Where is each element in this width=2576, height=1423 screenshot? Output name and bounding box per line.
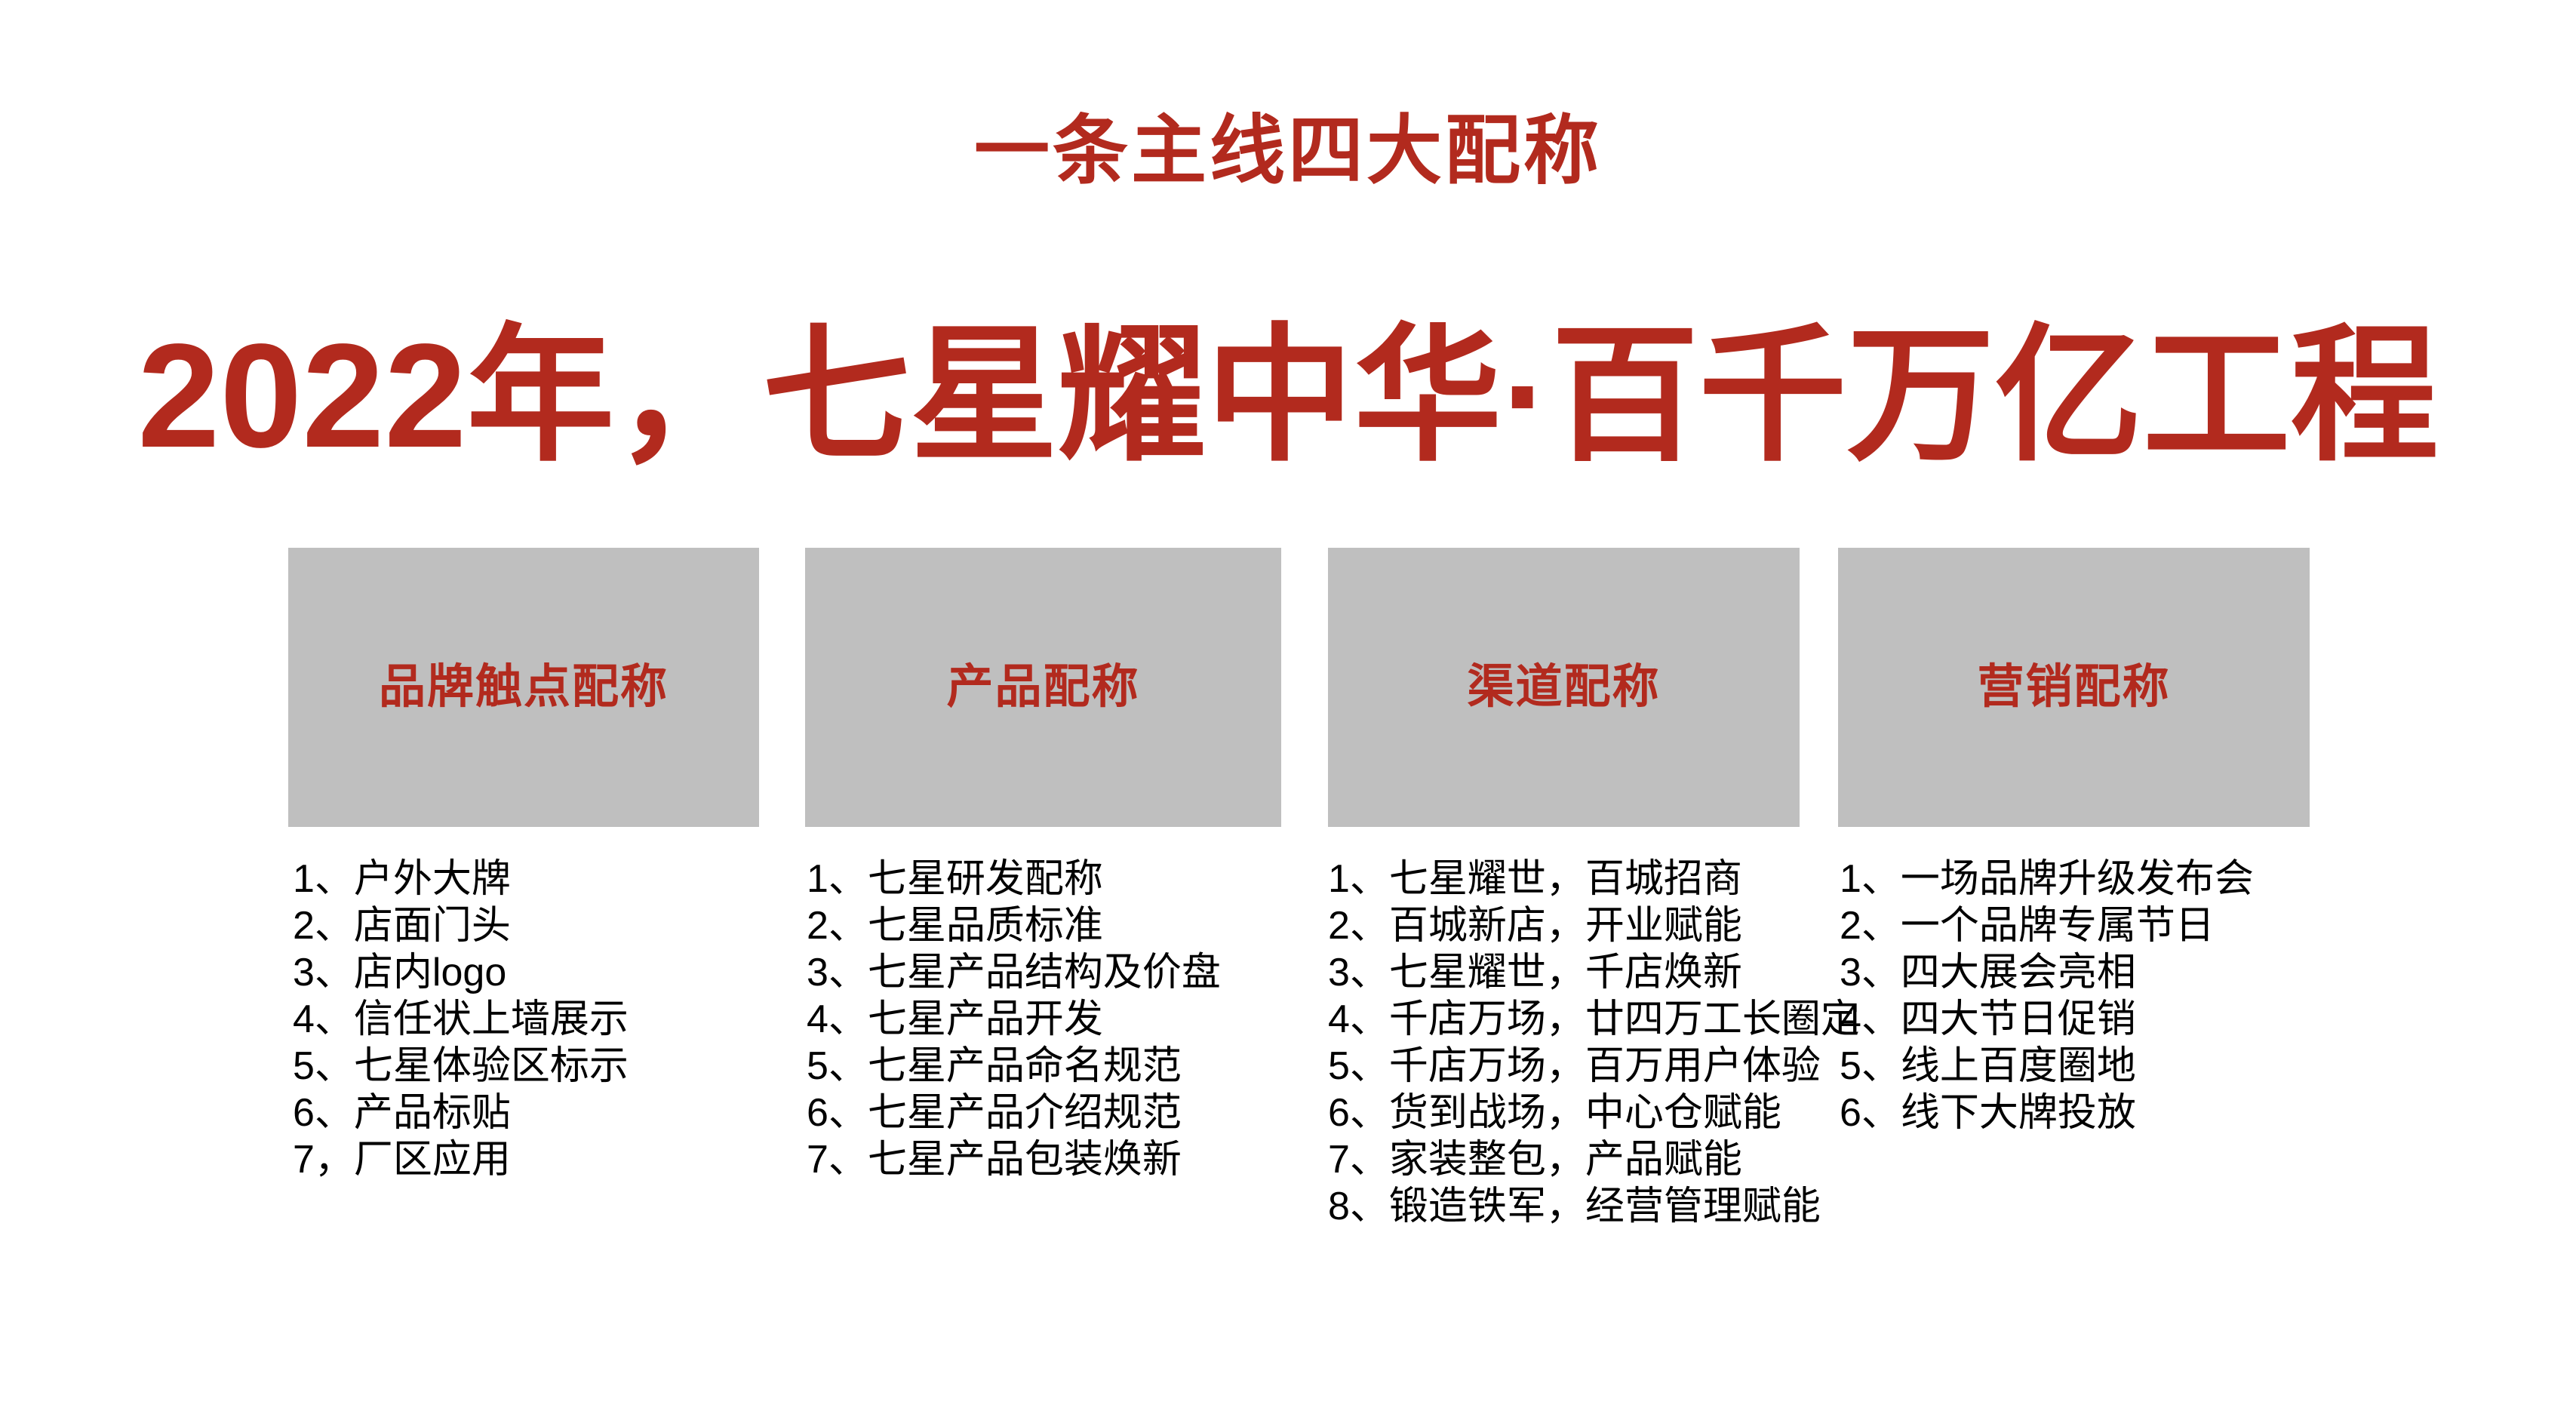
list-item: 8、锻造铁军，经营管理赋能 (1328, 1183, 1860, 1230)
list-item-text: 线下大牌投放 (1901, 1091, 2136, 1135)
list-item-text: 七星耀世，百城招商 (1389, 857, 1742, 901)
list-item: 5、千店万场，百万用户体验 (1328, 1043, 1860, 1090)
list-item-index: 2、 (1840, 904, 1901, 948)
list-item-index: 4、 (807, 997, 868, 1041)
list-item-index: 8、 (1328, 1185, 1389, 1228)
list-item-text: 七星产品结构及价盘 (868, 951, 1221, 994)
list-item-text: 厂区应用 (354, 1138, 511, 1182)
list-item-index: 5、 (1328, 1044, 1389, 1088)
category-header-label-1: 品牌触点配称 (379, 661, 669, 714)
list-item: 3、店内logo (293, 949, 629, 996)
list-item: 6、线下大牌投放 (1840, 1090, 2254, 1136)
list-item-text: 七星品质标准 (868, 904, 1103, 948)
list-item: 6、产品标贴 (293, 1090, 629, 1136)
list-item-text: 千店万场，百万用户体验 (1389, 1044, 1821, 1088)
list-item: 4、七星产品开发 (807, 996, 1221, 1043)
category-header-box-1: 品牌触点配称 (288, 548, 759, 827)
list-item: 1、户外大牌 (293, 856, 629, 902)
list-item-text: 四大展会亮相 (1901, 951, 2136, 994)
list-item: 2、一个品牌专属节日 (1840, 902, 2254, 949)
list-item: 6、七星产品介绍规范 (807, 1090, 1221, 1136)
list-item-text: 七星产品包装焕新 (868, 1138, 1182, 1182)
list-item-text: 货到战场，中心仓赋能 (1389, 1091, 1781, 1135)
category-item-list-4: 1、一场品牌升级发布会 2、一个品牌专属节日 3、四大展会亮相 4、四大节日促销… (1840, 856, 2254, 1136)
list-item-text: 七星耀世，千店焕新 (1389, 951, 1742, 994)
list-item-text: 产品标贴 (354, 1091, 511, 1135)
list-item-index: 2、 (1328, 904, 1389, 948)
list-item: 2、七星品质标准 (807, 902, 1221, 949)
category-column-product: 产品配称 1、七星研发配称 2、七星品质标准 3、七星产品结构及价盘 4、七星产… (805, 548, 1281, 827)
list-item-index: 4、 (1328, 997, 1389, 1041)
list-item-text: 七星产品介绍规范 (868, 1091, 1182, 1135)
list-item-index: 4、 (1840, 997, 1901, 1041)
list-item-index: 3、 (1328, 951, 1389, 994)
list-item: 7、家装整包，产品赋能 (1328, 1136, 1860, 1183)
list-item: 2、店面门头 (293, 902, 629, 949)
list-item-text: 信任状上墙展示 (354, 997, 629, 1041)
list-item-text: 千店万场，廿四万工长圈定 (1389, 997, 1860, 1041)
category-column-brand-touchpoint: 品牌触点配称 1、户外大牌 2、店面门头 3、店内logo 4、信任状上墙展示 … (288, 548, 759, 827)
list-item-index: 3、 (807, 951, 868, 994)
list-item-text: 户外大牌 (354, 857, 511, 901)
list-item-text: 线上百度圈地 (1901, 1044, 2136, 1088)
list-item-index: 6、 (807, 1091, 868, 1135)
list-item-text: 百城新店，开业赋能 (1389, 904, 1742, 948)
list-item-index: 1、 (1840, 857, 1901, 901)
list-item-text: 四大节日促销 (1901, 997, 2136, 1041)
slide-main-title: 2022年，七星耀中华·百千万亿工程 (0, 317, 2576, 475)
list-item-text: 七星研发配称 (868, 857, 1103, 901)
list-item: 7、七星产品包装焕新 (807, 1136, 1221, 1183)
category-column-channel: 渠道配称 1、七星耀世，百城招商 2、百城新店，开业赋能 3、七星耀世，千店焕新… (1328, 548, 1800, 827)
list-item-index: 3、 (1840, 951, 1901, 994)
list-item: 5、七星产品命名规范 (807, 1043, 1221, 1090)
category-header-box-4: 营销配称 (1838, 548, 2310, 827)
list-item: 3、四大展会亮相 (1840, 949, 2254, 996)
list-item: 4、四大节日促销 (1840, 996, 2254, 1043)
list-item-text: 一个品牌专属节日 (1901, 904, 2215, 948)
list-item-text: 一场品牌升级发布会 (1901, 857, 2254, 901)
category-item-list-2: 1、七星研发配称 2、七星品质标准 3、七星产品结构及价盘 4、七星产品开发 5… (807, 856, 1221, 1183)
list-item-index: 7、 (807, 1138, 868, 1182)
list-item: 3、七星产品结构及价盘 (807, 949, 1221, 996)
list-item-index: 6、 (293, 1091, 354, 1135)
category-header-label-2: 产品配称 (946, 661, 1139, 714)
list-item-index: 2、 (293, 904, 354, 948)
slide-canvas: 一条主线四大配称 2022年，七星耀中华·百千万亿工程 品牌触点配称 1、户外大… (0, 0, 2576, 1423)
list-item-index: 5、 (293, 1044, 354, 1088)
list-item-index: 2、 (807, 904, 868, 948)
list-item-index: 6、 (1840, 1091, 1901, 1135)
list-item: 2、百城新店，开业赋能 (1328, 902, 1860, 949)
category-header-label-3: 渠道配称 (1467, 661, 1660, 714)
list-item-text: 七星产品开发 (868, 997, 1103, 1041)
list-item: 7，厂区应用 (293, 1136, 629, 1183)
slide-subtitle: 一条主线四大配称 (0, 106, 2576, 196)
category-header-box-2: 产品配称 (805, 548, 1281, 827)
list-item-text: 锻造铁军，经营管理赋能 (1389, 1185, 1821, 1228)
list-item-index: 7、 (1328, 1138, 1389, 1182)
list-item: 1、七星耀世，百城招商 (1328, 856, 1860, 902)
list-item-text: 店面门头 (354, 904, 511, 948)
list-item-index: 5、 (1840, 1044, 1901, 1088)
list-item-index: 1、 (293, 857, 354, 901)
category-header-label-4: 营销配称 (1977, 661, 2170, 714)
list-item-index: 1、 (807, 857, 868, 901)
list-item-index: 1、 (1328, 857, 1389, 901)
list-item: 4、千店万场，廿四万工长圈定 (1328, 996, 1860, 1043)
list-item: 1、七星研发配称 (807, 856, 1221, 902)
list-item-index: 6、 (1328, 1091, 1389, 1135)
category-header-box-3: 渠道配称 (1328, 548, 1800, 827)
list-item-index: 7， (293, 1138, 354, 1182)
list-item-text: 家装整包，产品赋能 (1389, 1138, 1742, 1182)
category-item-list-1: 1、户外大牌 2、店面门头 3、店内logo 4、信任状上墙展示 5、七星体验区… (293, 856, 629, 1183)
list-item: 3、七星耀世，千店焕新 (1328, 949, 1860, 996)
list-item: 1、一场品牌升级发布会 (1840, 856, 2254, 902)
category-item-list-3: 1、七星耀世，百城招商 2、百城新店，开业赋能 3、七星耀世，千店焕新 4、千店… (1328, 856, 1860, 1230)
list-item: 5、七星体验区标示 (293, 1043, 629, 1090)
list-item-text: 七星产品命名规范 (868, 1044, 1182, 1088)
list-item-index: 5、 (807, 1044, 868, 1088)
list-item: 6、货到战场，中心仓赋能 (1328, 1090, 1860, 1136)
category-column-marketing: 营销配称 1、一场品牌升级发布会 2、一个品牌专属节日 3、四大展会亮相 4、四… (1838, 548, 2310, 827)
list-item: 4、信任状上墙展示 (293, 996, 629, 1043)
list-item-index: 3、 (293, 951, 354, 994)
list-item: 5、线上百度圈地 (1840, 1043, 2254, 1090)
list-item-text: 七星体验区标示 (354, 1044, 629, 1088)
list-item-index: 4、 (293, 997, 354, 1041)
list-item-text: 店内logo (354, 951, 506, 994)
